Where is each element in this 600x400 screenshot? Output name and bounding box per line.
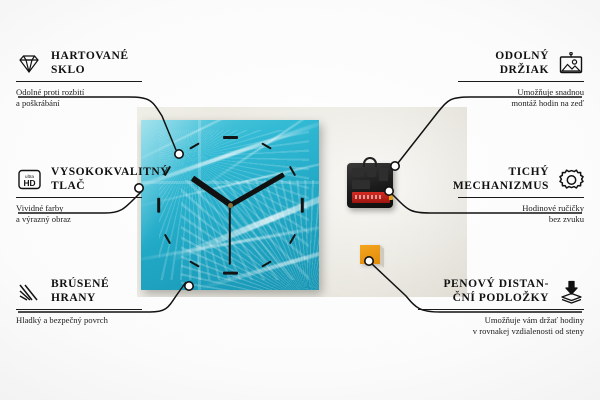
clock-tick — [261, 260, 272, 267]
divider — [16, 197, 142, 198]
divider — [16, 81, 142, 82]
feature-tempered-glass: HARTOVANÉSKLO Odolné proti rozbitía pošk… — [16, 50, 216, 108]
diamond-icon — [16, 52, 42, 76]
clock-tick — [223, 272, 238, 275]
svg-text:HD: HD — [23, 178, 35, 188]
feature-durable-holder: ODOLNÝDRŽIAK Umožňuje snadnoumontáž hodi… — [384, 50, 584, 108]
clock-tick — [189, 260, 200, 267]
feature-high-quality-print: ultra HD VYSOKOKVALITNÝTLAČ Vividné farb… — [16, 166, 216, 224]
clock-tick — [223, 136, 238, 139]
feature-description: Vividné farbya výrazný obraz — [16, 203, 216, 224]
clock-tick — [289, 166, 296, 177]
feature-description: Umožňuje snadnoumontáž hodin na zeď — [384, 87, 584, 108]
clock-tick — [164, 234, 171, 245]
ultra-hd-icon: ultra HD — [16, 168, 42, 192]
battery-label — [355, 195, 383, 199]
feature-header: ODOLNÝDRŽIAK — [384, 50, 584, 77]
feature-silent-mechanism: TICHÝMECHANIZMUS Hodinové ručičkybez zvu… — [384, 166, 584, 224]
feature-description: Odolné proti rozbitía poškrábání — [16, 87, 216, 108]
clock-minute-hand — [229, 172, 285, 207]
clock-center-cap — [228, 203, 233, 208]
foam-spacer-pad — [360, 245, 380, 264]
divider — [458, 197, 584, 198]
mechanism-detail — [367, 168, 376, 177]
feature-header: TICHÝMECHANIZMUS — [384, 166, 584, 193]
diagonal-lines-icon — [16, 280, 42, 304]
divider — [458, 81, 584, 82]
gear-icon — [558, 168, 584, 192]
feature-header: ultra HD VYSOKOKVALITNÝTLAČ — [16, 166, 216, 193]
clock-tick — [261, 142, 272, 149]
mechanism-detail — [352, 180, 370, 189]
divider — [418, 309, 584, 310]
clock-tick — [289, 234, 296, 245]
clock-tick — [301, 198, 304, 213]
mechanism-detail — [352, 168, 364, 177]
feature-title: TICHÝMECHANIZMUS — [453, 166, 549, 193]
feature-header: HARTOVANÉSKLO — [16, 50, 216, 77]
feature-header: PENOVÝ DISTAN-ČNÍ PODLOŽKY — [384, 278, 584, 305]
feature-title: ODOLNÝDRŽIAK — [495, 50, 549, 77]
layers-arrow-icon — [558, 280, 584, 304]
feature-title: VYSOKOKVALITNÝTLAČ — [51, 166, 169, 193]
infographic-canvas: HARTOVANÉSKLO Odolné proti rozbitía pošk… — [0, 0, 600, 400]
mechanism-hanger-hook — [363, 157, 377, 167]
clock-tick — [189, 142, 200, 149]
divider — [16, 309, 142, 310]
feature-header: BRÚSENÉHRANY — [16, 278, 216, 305]
feature-title: PENOVÝ DISTAN-ČNÍ PODLOŽKY — [443, 278, 549, 305]
picture-frame-icon — [558, 52, 584, 76]
feature-title: BRÚSENÉHRANY — [51, 278, 109, 305]
feature-title: HARTOVANÉSKLO — [51, 50, 129, 77]
clock-second-hand — [229, 205, 231, 265]
feature-polished-edges: BRÚSENÉHRANY Hladký a bezpečný povrch — [16, 278, 216, 326]
feature-description: Hladký a bezpečný povrch — [16, 315, 216, 326]
feature-description: Hodinové ručičkybez zvuku — [384, 203, 584, 224]
feature-foam-spacers: PENOVÝ DISTAN-ČNÍ PODLOŽKY Umožňuje vám … — [384, 278, 584, 336]
feature-description: Umožňuje vám držať hodinyv rovnakej vzdi… — [384, 315, 584, 336]
